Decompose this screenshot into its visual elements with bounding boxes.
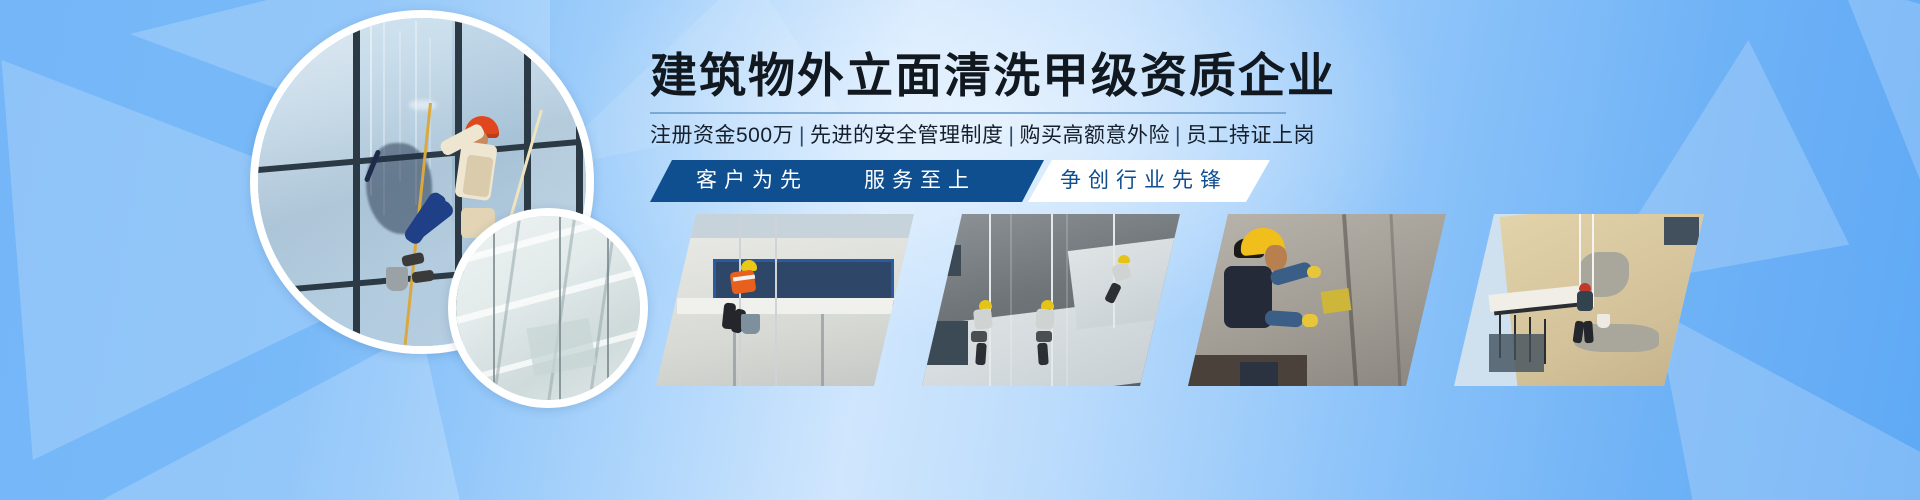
worker-leg	[1583, 320, 1594, 343]
orange-vest-worker-scene	[656, 214, 914, 386]
tool-bag	[1036, 331, 1052, 342]
beige-building-abseil-scene	[1454, 214, 1704, 386]
worker-torso	[1577, 291, 1593, 311]
strip-photo-3	[1188, 214, 1446, 386]
subtitle-separator: |	[1004, 124, 1020, 147]
strip-photo-2	[922, 214, 1180, 386]
worker-vest	[462, 154, 493, 197]
window	[927, 321, 968, 366]
banner-headline: 建筑物外立面清洗甲级资质企业	[650, 50, 1330, 102]
subtitle-item-3: 购买高额意外险	[1019, 124, 1170, 147]
strip-photo-4	[1454, 214, 1704, 386]
worker-arm	[1265, 310, 1304, 328]
work-glove	[1307, 266, 1321, 278]
safety-rope	[989, 214, 991, 386]
photo-strip	[648, 214, 1592, 386]
safety-rope	[1051, 214, 1053, 386]
safety-vest	[729, 269, 756, 294]
safety-helmet-icon	[1041, 300, 1054, 309]
tool-bag	[971, 331, 987, 342]
window	[925, 245, 961, 276]
worker-torso	[973, 308, 993, 330]
ribbon-slogan-1: 客户为先	[696, 160, 808, 202]
plaster-trowel	[1321, 288, 1352, 314]
worker-leg	[1240, 362, 1278, 386]
work-glove	[1302, 314, 1318, 327]
rope-line	[559, 216, 561, 400]
safety-rope	[775, 214, 777, 386]
strip-photo-1	[656, 214, 914, 386]
wall-seam	[1010, 214, 1012, 386]
subtitle-separator: |	[794, 124, 810, 147]
worker-torso	[1035, 308, 1054, 329]
wall-ledge	[677, 298, 909, 313]
subtitle-item-1: 注册资金500万	[650, 124, 794, 147]
headline-divider	[650, 112, 1286, 114]
work-bucket	[1597, 314, 1610, 328]
worker-leg	[975, 343, 987, 366]
worker-boot	[401, 252, 425, 267]
safety-helmet-icon	[1579, 283, 1591, 291]
wall-seam	[1066, 214, 1068, 386]
worker-boot	[411, 269, 434, 283]
safety-rope	[739, 214, 741, 386]
window	[1489, 334, 1544, 372]
slogan-ribbon: 客户为先 服务至上 争创行业先锋	[650, 160, 1270, 202]
promo-banner: 建筑物外立面清洗甲级资质企业 注册资金500万|先进的安全管理制度|购买高额意外…	[0, 0, 1920, 500]
wall-seam	[821, 314, 824, 386]
rope-line	[493, 216, 495, 400]
subtitle-item-2: 先进的安全管理制度	[810, 124, 1004, 147]
gray-wall-abseil-scene	[922, 214, 1180, 386]
water-bucket	[386, 267, 408, 291]
circle-photo-small	[448, 208, 648, 408]
balcony-railing	[1544, 319, 1546, 364]
banner-subtitle: 注册资金500万|先进的安全管理制度|购买高额意外险|员工持证上岗	[650, 120, 1350, 152]
ribbon-slogan-2: 服务至上	[864, 160, 976, 202]
rope-line	[607, 216, 609, 400]
worker-leg	[1037, 343, 1049, 366]
window	[1664, 217, 1699, 245]
ribbon-slogan-3: 争创行业先锋	[1060, 160, 1228, 202]
plasterer-closeup-scene	[1188, 214, 1446, 386]
subtitle-separator: |	[1170, 124, 1186, 147]
pale-facade-scene	[456, 216, 640, 400]
subtitle-item-4: 员工持证上岗	[1186, 124, 1315, 147]
paint-bucket	[741, 314, 760, 334]
